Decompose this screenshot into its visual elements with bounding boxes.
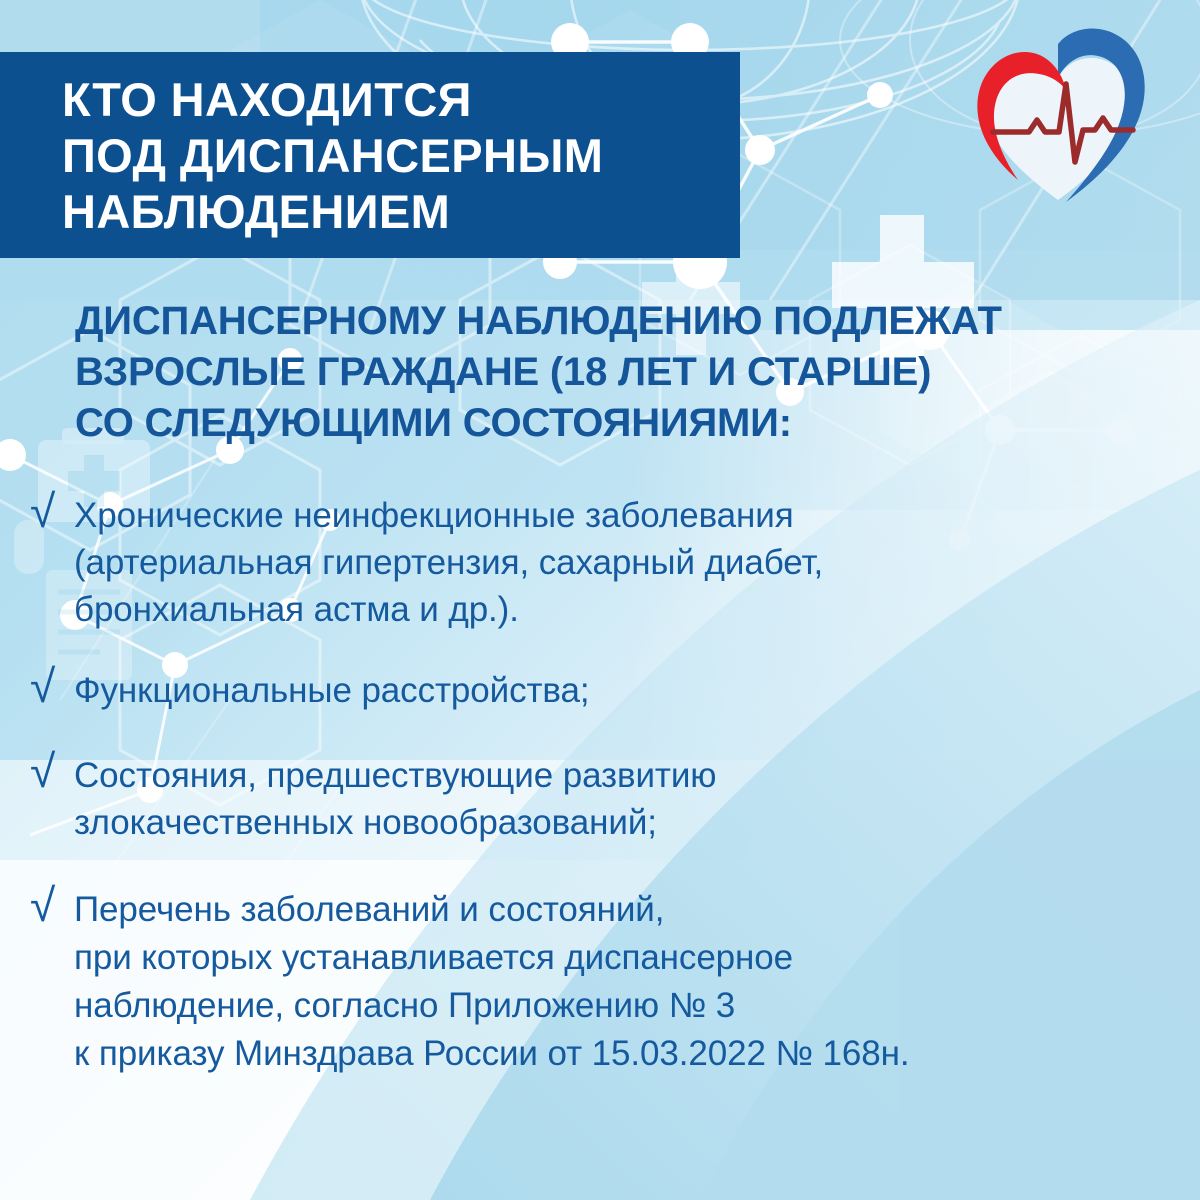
list-item: √ Перечень заболеваний и состояний, при … bbox=[30, 886, 1180, 1078]
list-item-text: Хронические неинфекционные заболевания (… bbox=[30, 492, 1180, 633]
list-item-line: Состояния, предшествующие развитию bbox=[74, 752, 1180, 799]
headline-line-1: ДИСПАНСЕРНОМУ НАБЛЮДЕНИЮ ПОДЛЕЖАТ bbox=[75, 296, 1165, 347]
conditions-list: √ Хронические неинфекционные заболевания… bbox=[30, 492, 1180, 1107]
check-icon: √ bbox=[30, 748, 70, 794]
check-icon: √ bbox=[30, 882, 70, 928]
banner-line-2: ПОД ДИСПАНСЕРНЫМ bbox=[62, 128, 740, 184]
list-item-line: наблюдение, согласно Приложению № 3 bbox=[74, 982, 1180, 1030]
list-item-line: Функциональные расстройства; bbox=[74, 667, 1180, 714]
list-item-line: бронхиальная астма и др.). bbox=[74, 586, 1180, 633]
list-item: √ Хронические неинфекционные заболевания… bbox=[30, 492, 1180, 633]
list-item: √ Функциональные расстройства; bbox=[30, 667, 1180, 714]
list-item-line: при которых устанавливается диспансерное bbox=[74, 934, 1180, 982]
list-item-text: Состояния, предшествующие развитию злока… bbox=[30, 752, 1180, 846]
headline: ДИСПАНСЕРНОМУ НАБЛЮДЕНИЮ ПОДЛЕЖАТ ВЗРОСЛ… bbox=[75, 296, 1165, 449]
check-icon: √ bbox=[30, 488, 70, 534]
check-icon: √ bbox=[30, 663, 70, 709]
header-banner: КТО НАХОДИТСЯ ПОД ДИСПАНСЕРНЫМ НАБЛЮДЕНИ… bbox=[0, 52, 740, 258]
infographic-poster: КТО НАХОДИТСЯ ПОД ДИСПАНСЕРНЫМ НАБЛЮДЕНИ… bbox=[0, 0, 1200, 1200]
list-item: √ Состояния, предшествующие развитию зло… bbox=[30, 752, 1180, 846]
list-item-line: (артериальная гипертензия, сахарный диаб… bbox=[74, 539, 1180, 586]
headline-line-2: ВЗРОСЛЫЕ ГРАЖДАНЕ (18 ЛЕТ И СТАРШЕ) bbox=[75, 347, 1165, 398]
banner-line-1: КТО НАХОДИТСЯ bbox=[62, 72, 740, 128]
list-item-text: Функциональные расстройства; bbox=[30, 667, 1180, 714]
banner-line-3: НАБЛЮДЕНИЕМ bbox=[62, 184, 740, 240]
headline-line-3: СО СЛЕДУЮЩИМИ СОСТОЯНИЯМИ: bbox=[75, 398, 1165, 449]
list-item-line: злокачественных новообразований; bbox=[74, 799, 1180, 846]
heart-ecg-logo bbox=[963, 22, 1153, 212]
list-item-text: Перечень заболеваний и состояний, при ко… bbox=[30, 886, 1180, 1078]
list-item-line: к приказу Минздрава России от 15.03.2022… bbox=[74, 1030, 1180, 1078]
list-item-line: Перечень заболеваний и состояний, bbox=[74, 886, 1180, 934]
list-item-line: Хронические неинфекционные заболевания bbox=[74, 492, 1180, 539]
